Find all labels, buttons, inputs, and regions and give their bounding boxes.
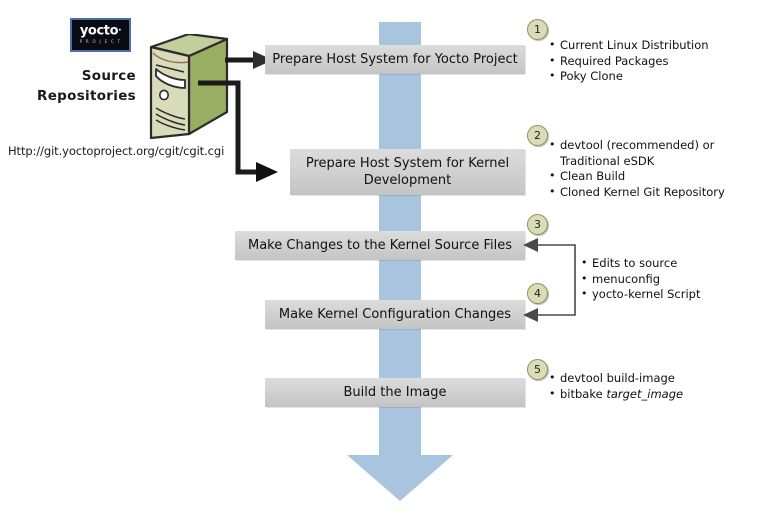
yocto-project-logo: yocto· P R O J E C T: [70, 18, 131, 52]
note-text: bitbake: [560, 387, 606, 401]
logo-dot: ·: [118, 26, 121, 36]
step-number-2-value: 2: [534, 129, 541, 142]
notes-steps-3-4: Edits to source menuconfig yocto-kernel …: [580, 256, 765, 303]
note-item: devtool build-image: [548, 371, 763, 387]
note-item: yocto-kernel Script: [580, 287, 765, 303]
connector-bracket-steps-3-4: [520, 236, 582, 324]
note-item: Clean Build: [548, 169, 763, 185]
notes-step2: devtool (recommended) or Traditional eSD…: [548, 138, 763, 200]
process-box-step2[interactable]: Prepare Host System for Kernel Developme…: [290, 149, 525, 195]
note-item: Poky Clone: [548, 69, 763, 85]
process-box-step1-label: Prepare Host System for Yocto Project: [272, 51, 517, 68]
process-box-step2-label: Prepare Host System for Kernel Developme…: [306, 155, 509, 189]
process-box-step2-label-line2: Development: [364, 173, 452, 188]
diagram-canvas: yocto· P R O J E C T Source Repositories…: [0, 0, 769, 517]
step-number-1-value: 1: [534, 23, 541, 36]
note-item: Required Packages: [548, 54, 763, 70]
process-box-step4-label: Make Kernel Configuration Changes: [279, 306, 511, 323]
step-number-4-value: 4: [534, 287, 541, 300]
repository-url-text: Http://git.yoctoproject.org/cgit/cgit.cg…: [8, 144, 224, 158]
step-number-1: 1: [527, 19, 548, 40]
process-box-step2-label-line1: Prepare Host System for Kernel: [306, 156, 509, 171]
source-repositories-label-line1: Source: [0, 66, 136, 86]
step-number-4: 4: [527, 283, 548, 304]
process-box-step1[interactable]: Prepare Host System for Yocto Project: [265, 45, 525, 74]
logo-wordmark: yocto·: [80, 25, 121, 38]
process-box-step5[interactable]: Build the Image: [265, 378, 525, 407]
source-repositories-label: Source Repositories: [0, 66, 136, 106]
note-item: Cloned Kernel Git Repository: [548, 185, 763, 201]
note-item: devtool (recommended) or Traditional eSD…: [548, 138, 763, 169]
process-box-step5-label: Build the Image: [344, 384, 447, 401]
note-item: Current Linux Distribution: [548, 38, 763, 54]
notes-step1: Current Linux Distribution Required Pack…: [548, 38, 763, 85]
logo-subtitle: P R O J E C T: [80, 38, 122, 45]
step-number-3: 3: [527, 214, 548, 235]
process-box-step3-label: Make Changes to the Kernel Source Files: [248, 237, 512, 254]
step-number-5: 5: [527, 359, 548, 380]
step-number-2: 2: [527, 125, 548, 146]
note-item: bitbake target_image: [548, 387, 763, 403]
process-box-step4[interactable]: Make Kernel Configuration Changes: [265, 300, 525, 329]
step-number-3-value: 3: [534, 218, 541, 231]
note-item: menuconfig: [580, 272, 765, 288]
note-item: Edits to source: [580, 256, 765, 272]
process-box-step3[interactable]: Make Changes to the Kernel Source Files: [235, 231, 525, 260]
step-number-5-value: 5: [534, 363, 541, 376]
source-repositories-label-line2: Repositories: [0, 86, 136, 106]
notes-step5: devtool build-image bitbake target_image: [548, 371, 763, 402]
note-text-italic: target_image: [606, 387, 683, 401]
